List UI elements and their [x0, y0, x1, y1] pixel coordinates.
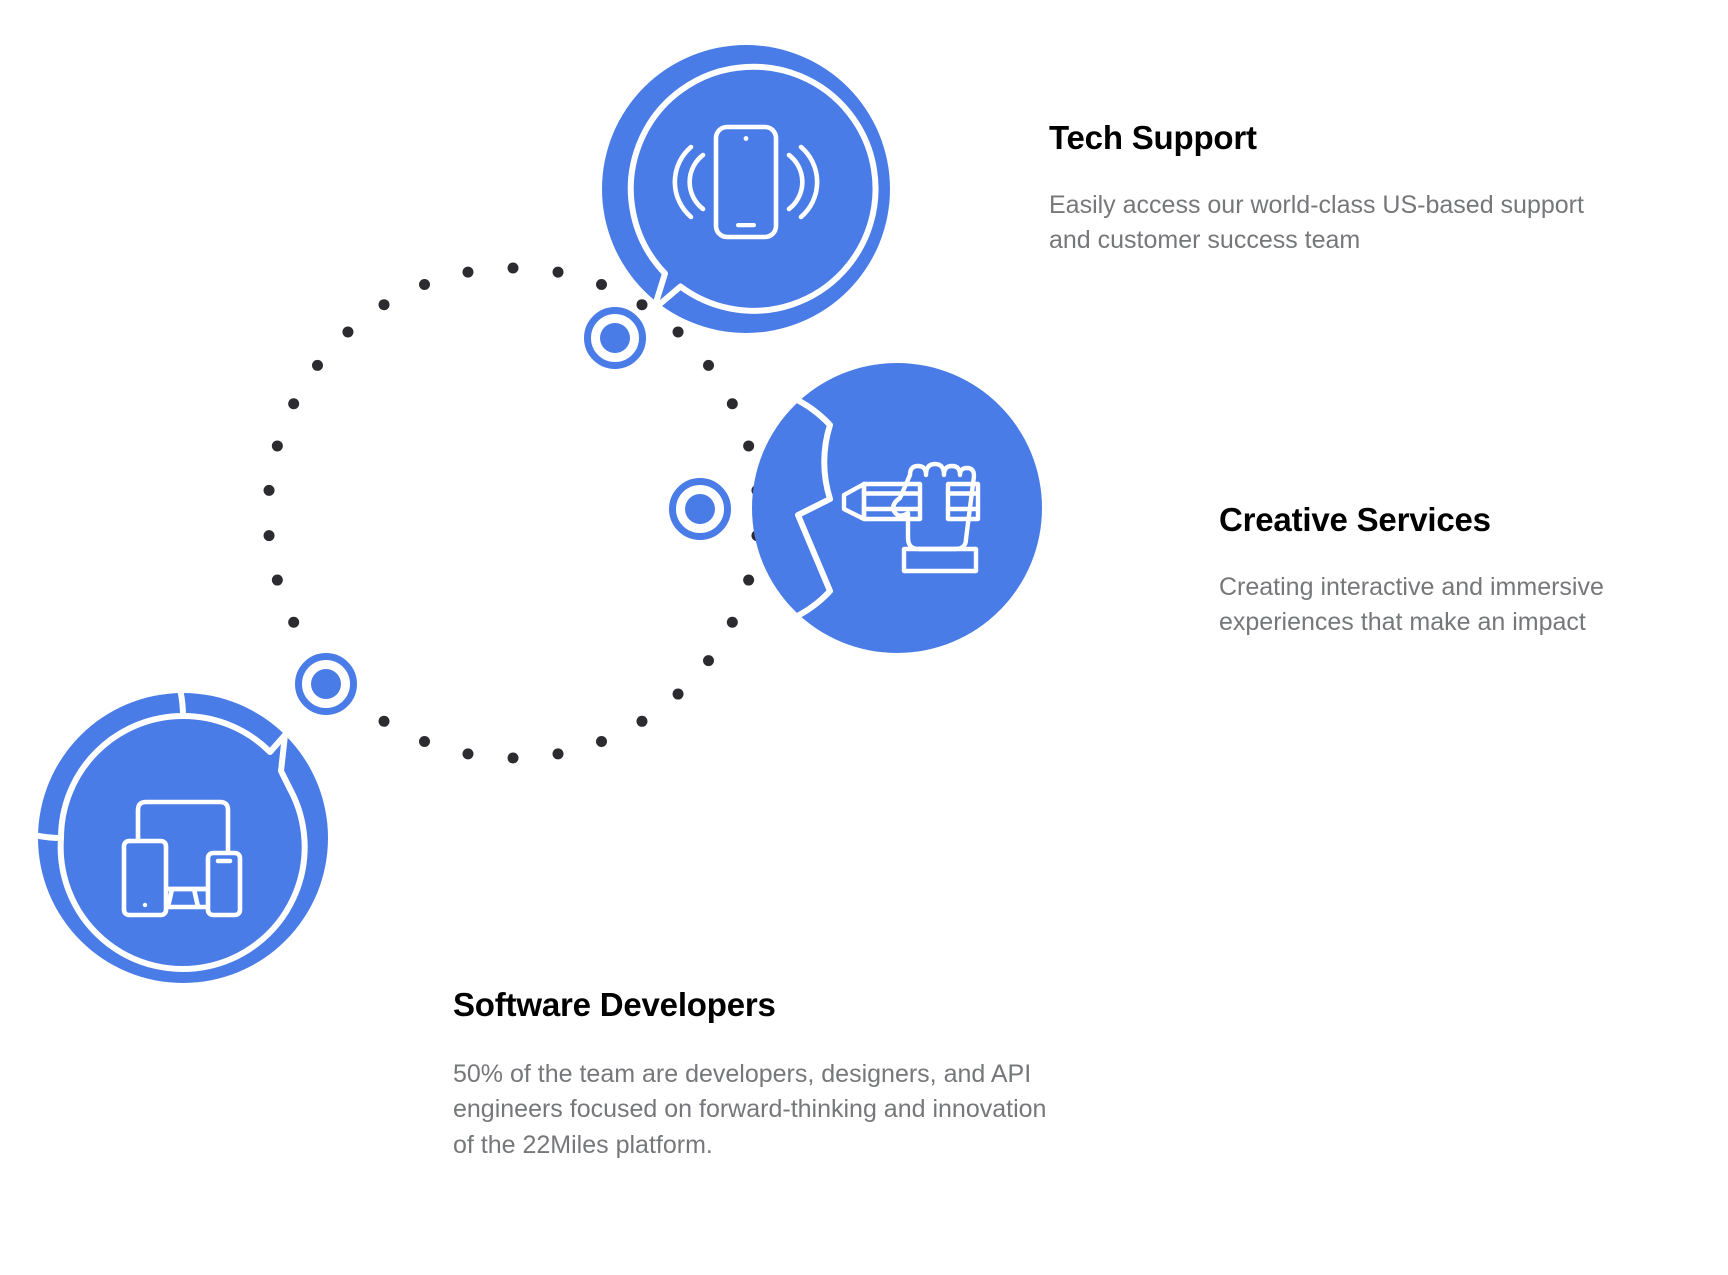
orbit-dot: [312, 360, 323, 371]
speech-bubble-ring: [752, 386, 830, 630]
hand-holding-pencil-icon: [844, 464, 978, 571]
heading-tech-support: Tech Support: [1049, 118, 1609, 158]
orbit-dot: [727, 617, 738, 628]
orbit-dot: [288, 398, 299, 409]
orbit-dot: [342, 326, 353, 337]
responsive-devices-icon: [124, 802, 240, 915]
orbit-dot: [264, 485, 275, 496]
description-tech-support: Easily access our world-class US-based s…: [1049, 188, 1609, 259]
icon-bubble-tech-support[interactable]: [602, 45, 890, 333]
orbit-dot: [264, 530, 275, 541]
orbit-dot: [673, 689, 684, 700]
heading-software-developers: Software Developers: [453, 985, 1053, 1025]
orbit-dot: [288, 617, 299, 628]
orbit-dot: [553, 748, 564, 759]
orbit-dot: [636, 716, 647, 727]
speech-bubble-tail: [183, 716, 290, 789]
speech-bubble-ring-base: [38, 693, 183, 838]
description-creative-services: Creating interactive and immersive exper…: [1219, 570, 1719, 641]
text-block-tech-support: Tech Support Easily access our world-cla…: [1049, 118, 1609, 259]
phone-vibrate-icon: [675, 127, 817, 237]
orbit-dot: [272, 575, 283, 586]
orbit-dot: [419, 279, 430, 290]
description-software-developers: 50% of the team are developers, designer…: [453, 1057, 1053, 1164]
orbit-dot: [703, 360, 714, 371]
heading-creative-services: Creative Services: [1219, 500, 1719, 540]
orbit-dot: [596, 736, 607, 747]
icon-bubble-software-developers[interactable]: [38, 693, 328, 983]
speech-bubble-ring-arc: [61, 789, 305, 969]
infographic-canvas: Tech Support Easily access our world-cla…: [0, 0, 1728, 1275]
orbit-dot: [419, 736, 430, 747]
orbit-dot: [553, 267, 564, 278]
orbit-dot: [379, 299, 390, 310]
text-block-software-developers: Software Developers 50% of the team are …: [453, 985, 1053, 1163]
orbit-dot: [508, 263, 519, 274]
orbit-node-marker-creative-services[interactable]: [669, 478, 731, 540]
orbit-dot: [379, 716, 390, 727]
orbit-dot: [727, 398, 738, 409]
orbit-dot: [272, 440, 283, 451]
orbit-dot: [462, 748, 473, 759]
speech-bubble-ring: [631, 67, 876, 311]
text-block-creative-services: Creative Services Creating interactive a…: [1219, 500, 1719, 641]
icon-bubble-creative-services[interactable]: [752, 363, 1042, 653]
orbit-dot: [508, 753, 519, 764]
orbit-dot: [703, 655, 714, 666]
orbit-dot: [462, 267, 473, 278]
